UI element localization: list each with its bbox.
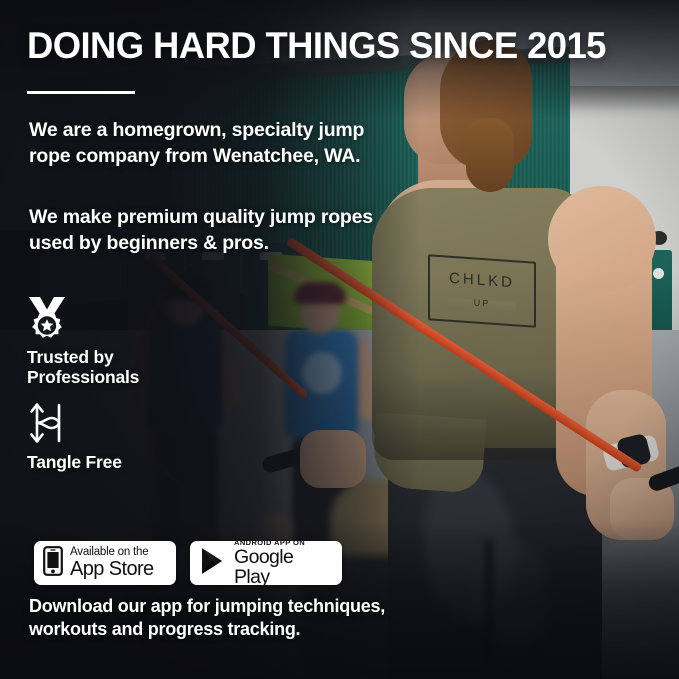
google-play-badge-text: ANDROID APP ON Google Play: [234, 539, 333, 588]
headline: DOING HARD THINGS SINCE 2015: [27, 27, 657, 66]
app-store-badge[interactable]: Available on the App Store: [34, 541, 176, 585]
medal-icon: [25, 296, 69, 349]
banner-content: DOING HARD THINGS SINCE 2015 We are a ho…: [0, 0, 679, 679]
app-store-badge-text: Available on the App Store: [70, 547, 154, 580]
headline-divider-rule: [27, 91, 135, 94]
google-play-badge[interactable]: ANDROID APP ON Google Play: [190, 541, 342, 585]
intro-paragraph-2: We make premium quality jump ropes used …: [29, 205, 389, 257]
app-store-badges: Available on the App Store ANDROID APP O…: [34, 541, 342, 585]
iphone-icon: [43, 546, 63, 581]
product-feature-banner: CHLKD UP DOING HARD THINGS SINCE 2015: [0, 0, 679, 679]
google-play-badge-title: Google Play: [234, 548, 333, 587]
feature-label-trusted: Trusted by Professionals: [27, 347, 227, 388]
intro-paragraph-1: We are a homegrown, specialty jump rope …: [29, 118, 389, 170]
tangle-free-icon: [28, 399, 68, 452]
feature-label-tangle-free: Tangle Free: [27, 452, 227, 472]
app-store-badge-title: App Store: [70, 559, 154, 579]
download-caption: Download our app for jumping techniques,…: [29, 595, 399, 641]
google-play-triangle-icon: [199, 546, 226, 581]
google-play-badge-subtitle: ANDROID APP ON: [234, 539, 333, 547]
app-store-badge-subtitle: Available on the: [70, 547, 154, 559]
